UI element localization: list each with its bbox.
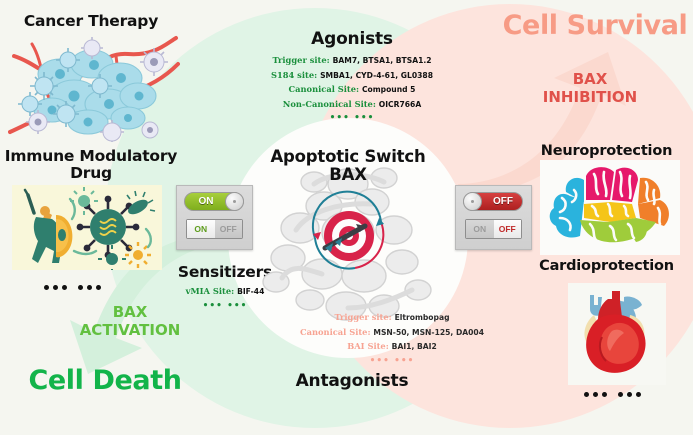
heart-icon [568,283,666,385]
antagonist-entry: BAI Site: BAI1, BAI2 [292,341,492,351]
segmented-switch-off[interactable]: ON OFF [465,219,522,239]
bax-on-switch-panel[interactable]: ON ON OFF [176,185,253,250]
entry-key: Trigger site: [272,55,329,65]
entry-key: Non-Canonical Site: [283,99,376,109]
entry-key: BAI Site: [347,341,389,351]
entry-key: S184 site: [271,70,317,80]
entry-key: Canonical Site: [289,84,360,94]
bax-inhibition-line1: BAX [515,70,665,88]
entry-value: MSN-50, MSN-125, DA004 [373,328,484,337]
segment-on[interactable]: ON [187,220,215,238]
bax-off-switch-panel[interactable]: OFF ON OFF [455,185,532,250]
toggle-switch-on[interactable]: ON [184,192,244,211]
cell-survival-label: Cell Survival [500,10,690,41]
entry-value: Compound 5 [362,85,416,94]
antagonists-ellipsis: ••• ••• [292,356,492,366]
agonists-title: Agonists [262,30,442,49]
entry-value: BAM7, BTSA1, BTSA1.2 [333,56,432,65]
immune-defense-icon [12,185,162,270]
immune-title-line2: Drug [0,165,182,182]
entry-value: OICR766A [379,100,421,109]
toggle-knob[interactable] [225,192,244,211]
segment-off[interactable]: OFF [215,220,243,238]
immune-modulatory-drug-title: Immune Modulatory Drug [0,148,182,183]
left-ellipsis-dots [44,285,101,290]
agonist-entry: Canonical Site: Compound 5 [252,84,452,94]
antagonist-entry: Trigger site: Eltrombopag [292,312,492,322]
toggle-knob[interactable] [463,192,482,211]
segmented-switch-on[interactable]: ON OFF [186,219,243,239]
entry-key: vMIA Site: [186,286,235,296]
antagonists-list: Trigger site: Eltrombopag Canonical Site… [292,312,492,370]
bax-inhibition-label: BAX INHIBITION [515,70,665,106]
apoptotic-switch-title: Apoptotic Switch BAX [252,148,444,185]
cardioprotection-title: Cardioprotection [520,258,693,274]
bax-inhibition-line2: INHIBITION [515,88,665,106]
entry-value: Eltrombopag [395,313,450,322]
antagonists-title: Antagonists [262,372,442,391]
right-ellipsis-dots [584,392,641,397]
toggle-on-label: ON [187,196,225,207]
target-bullseye-arrow-icon [303,188,395,280]
bax-activation-line2: ACTIVATION [55,321,205,339]
switch-title-line1: Apoptotic Switch [252,148,444,166]
toggle-switch-off[interactable]: OFF [463,192,523,211]
agonist-entry: Non-Canonical Site: OICR766A [252,99,452,109]
agonist-entry: Trigger site: BAM7, BTSA1, BTSA1.2 [252,55,452,65]
entry-value: SMBA1, CYD-4-61, GL0388 [320,71,433,80]
toggle-off-label: OFF [484,196,522,207]
agonists-ellipsis: ••• ••• [252,113,452,123]
agonist-entry: S184 site: SMBA1, CYD-4-61, GL0388 [252,70,452,80]
segment-off[interactable]: OFF [494,220,522,238]
figure-canvas: Cancer Therapy [0,0,693,435]
cell-death-label: Cell Death [10,365,200,396]
agonists-list: Trigger site: BAM7, BTSA1, BTSA1.2 S184 … [252,55,452,128]
immune-title-line1: Immune Modulatory [0,148,182,165]
switch-title-line2: BAX [252,166,444,184]
cancer-therapy-title: Cancer Therapy [0,13,182,30]
brain-icon [540,160,680,255]
tumor-cells-icon [8,34,180,142]
entry-key: Trigger site: [334,312,391,322]
entry-key: Canonical Site: [300,327,371,337]
segment-on[interactable]: ON [466,220,494,238]
entry-value: BAI1, BAI2 [392,342,437,351]
antagonist-entry: Canonical Site: MSN-50, MSN-125, DA004 [292,327,492,337]
neuroprotection-title: Neuroprotection [520,143,693,159]
